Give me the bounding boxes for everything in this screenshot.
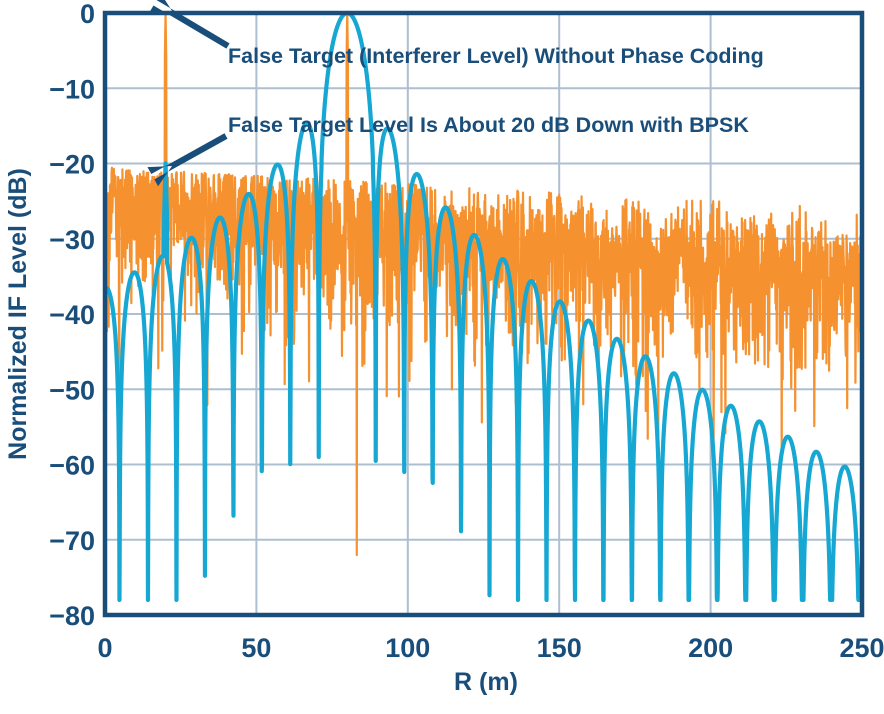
x-axis-title: R (m) bbox=[454, 668, 518, 696]
y-tick-label: −20 bbox=[49, 150, 95, 180]
y-tick-label: −10 bbox=[49, 74, 95, 104]
y-tick-label: −50 bbox=[49, 375, 95, 405]
chart-background bbox=[0, 0, 884, 714]
if-level-vs-range-chart: 0−10−20−30−40−50−60−70−80050100150200250… bbox=[0, 0, 884, 714]
annotation-label-bpsk: False Target Level Is About 20 dB Down w… bbox=[228, 113, 749, 137]
y-tick-label: −70 bbox=[49, 526, 95, 556]
y-tick-label: 0 bbox=[80, 0, 95, 29]
x-tick-label: 250 bbox=[839, 633, 884, 663]
x-tick-label: 100 bbox=[385, 633, 430, 663]
y-tick-label: −30 bbox=[49, 225, 95, 255]
y-axis-title: Normalized IF Level (dB) bbox=[4, 168, 32, 460]
y-tick-label: −40 bbox=[49, 300, 95, 330]
y-tick-label: −80 bbox=[49, 601, 95, 631]
x-tick-label: 150 bbox=[537, 633, 582, 663]
x-tick-label: 200 bbox=[688, 633, 733, 663]
x-tick-label: 0 bbox=[97, 633, 112, 663]
x-tick-label: 50 bbox=[241, 633, 271, 663]
y-tick-label: −60 bbox=[49, 451, 95, 481]
chart-root: 0−10−20−30−40−50−60−70−80050100150200250… bbox=[0, 0, 884, 714]
annotation-label-uncoded: False Target (Interferer Level) Without … bbox=[228, 44, 764, 68]
